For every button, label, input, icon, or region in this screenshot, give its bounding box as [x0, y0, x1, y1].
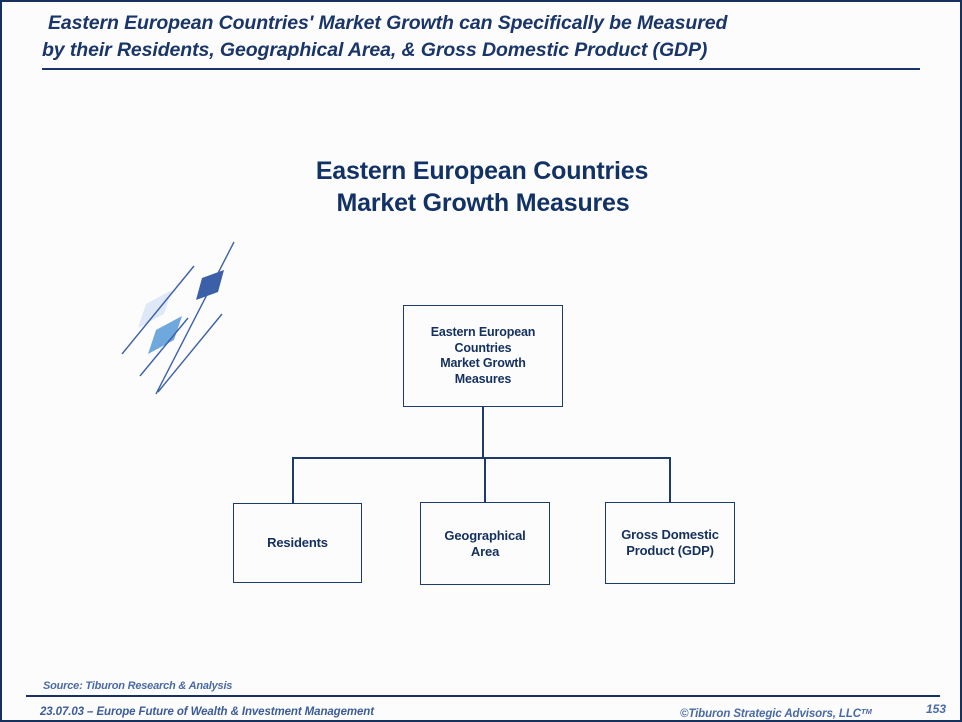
page-number: 153: [926, 702, 946, 716]
trademark-icon: TM: [861, 707, 872, 716]
footer-copyright: ©Tiburon Strategic Advisors, LLCTM: [680, 707, 872, 720]
geographical-line-2: Area: [471, 544, 499, 559]
chart-node-root: Eastern European Countries Market Growth…: [403, 305, 563, 407]
chart-node-residents-label: Residents: [267, 535, 328, 551]
root-line-3: Market Growth: [440, 356, 526, 370]
chart-node-root-label: Eastern European Countries Market Growth…: [431, 325, 536, 387]
connector-root-drop: [482, 407, 484, 458]
gdp-line-2: Product (GDP): [626, 543, 714, 558]
chart-node-gdp-label: Gross Domestic Product (GDP): [621, 527, 719, 559]
chart-node-residents: Residents: [233, 503, 362, 583]
connector-drop-residents: [292, 457, 294, 503]
root-line-4: Measures: [455, 372, 511, 386]
source-note: Source: Tiburon Research & Analysis: [43, 680, 232, 692]
org-chart: Eastern European Countries Market Growth…: [2, 2, 962, 722]
footer-date-label: 23.07.03 – Europe Future of Wealth & Inv…: [40, 706, 374, 718]
footer-divider-rule: [26, 695, 940, 697]
root-line-2: Countries: [454, 341, 511, 355]
chart-node-geographical-area: Geographical Area: [420, 502, 550, 585]
root-line-1: Eastern European: [431, 325, 536, 339]
slide-canvas: Eastern European Countries' Market Growt…: [0, 0, 962, 722]
connector-horizontal-bus: [292, 457, 670, 459]
chart-node-geographical-area-label: Geographical Area: [444, 528, 525, 560]
connector-drop-gdp: [669, 457, 671, 502]
gdp-line-1: Gross Domestic: [621, 527, 719, 542]
chart-node-gdp: Gross Domestic Product (GDP): [605, 502, 735, 584]
geographical-line-1: Geographical: [444, 528, 525, 543]
footer-copyright-text: ©Tiburon Strategic Advisors, LLC: [680, 708, 861, 720]
connector-drop-geographical: [484, 457, 486, 502]
